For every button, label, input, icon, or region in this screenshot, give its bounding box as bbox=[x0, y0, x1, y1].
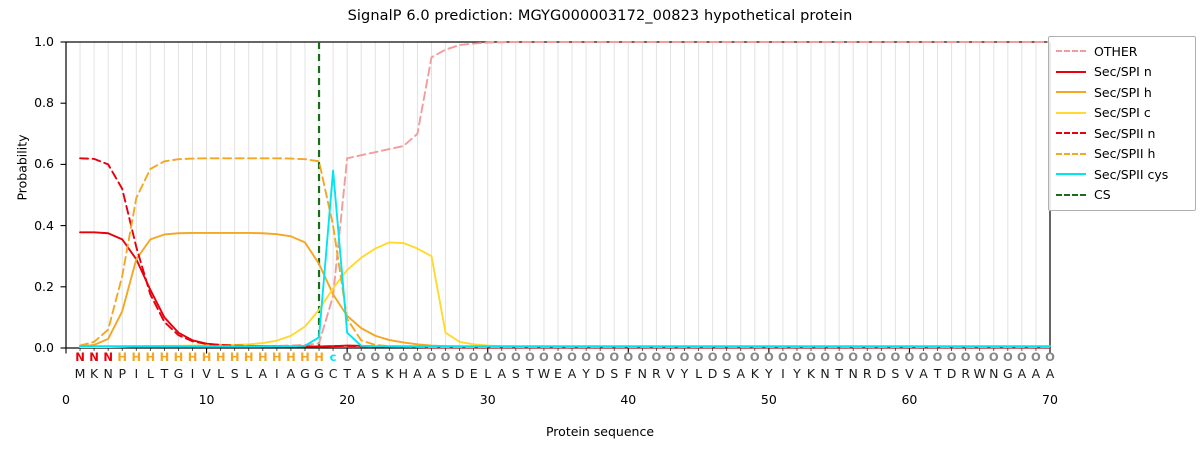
legend-item-sec-spii-cys[interactable]: Sec/SPII cys bbox=[1049, 164, 1195, 185]
legend[interactable]: OTHERSec/SPI nSec/SPI hSec/SPI cSec/SPII… bbox=[1048, 36, 1196, 211]
series-line-sec-spi-n bbox=[80, 232, 1050, 347]
legend-swatch-icon bbox=[1056, 45, 1086, 57]
legend-label: Sec/SPI c bbox=[1094, 105, 1151, 120]
legend-label: Sec/SPI n bbox=[1094, 64, 1152, 79]
legend-item-cs[interactable]: CS bbox=[1049, 185, 1195, 206]
legend-item-sec-spii-n[interactable]: Sec/SPII n bbox=[1049, 123, 1195, 144]
legend-item-sec-spi-n[interactable]: Sec/SPI n bbox=[1049, 62, 1195, 83]
legend-item-sec-spii-h[interactable]: Sec/SPII h bbox=[1049, 144, 1195, 165]
legend-label: Sec/SPII h bbox=[1094, 146, 1155, 161]
legend-item-other[interactable]: OTHER bbox=[1049, 41, 1195, 62]
legend-swatch-icon bbox=[1056, 66, 1086, 78]
legend-swatch-icon bbox=[1056, 168, 1086, 180]
legend-label: CS bbox=[1094, 187, 1111, 202]
legend-swatch-icon bbox=[1056, 107, 1086, 119]
series-line-other bbox=[80, 42, 1050, 346]
legend-label: Sec/SPII cys bbox=[1094, 167, 1168, 182]
legend-item-sec-spi-h[interactable]: Sec/SPI h bbox=[1049, 82, 1195, 103]
legend-label: Sec/SPI h bbox=[1094, 85, 1152, 100]
signalp-figure: SignalP 6.0 prediction: MGYG000003172_00… bbox=[0, 0, 1200, 450]
plot-canvas bbox=[0, 0, 1200, 450]
region-marker: O bbox=[1038, 350, 1062, 364]
legend-swatch-icon bbox=[1056, 148, 1086, 160]
legend-swatch-icon bbox=[1056, 86, 1086, 98]
series-line-sec-spi-c bbox=[80, 242, 1050, 347]
legend-label: OTHER bbox=[1094, 44, 1137, 59]
series-line-sec-spii-cys bbox=[80, 171, 1050, 347]
legend-swatch-icon bbox=[1056, 189, 1086, 201]
series-line-sec-spii-h bbox=[80, 158, 1050, 347]
legend-item-sec-spi-c[interactable]: Sec/SPI c bbox=[1049, 103, 1195, 124]
legend-swatch-icon bbox=[1056, 127, 1086, 139]
series-line-sec-spi-h bbox=[80, 233, 1050, 347]
series-line-sec-spii-n bbox=[80, 158, 1050, 347]
residue-letter: A bbox=[1038, 366, 1062, 381]
legend-label: Sec/SPII n bbox=[1094, 126, 1155, 141]
